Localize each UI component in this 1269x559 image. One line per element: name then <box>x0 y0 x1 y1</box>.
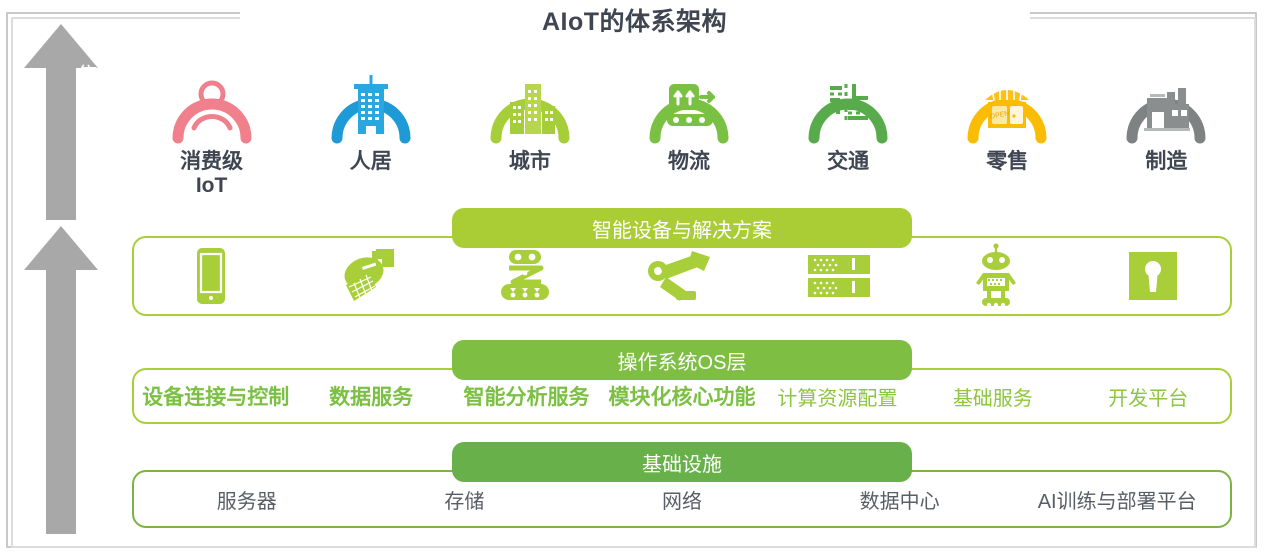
infrastructure-pill: 基础设施 <box>452 442 912 482</box>
os-item-device-connection[interactable]: 设备连接与控制 <box>138 381 293 411</box>
city-icon <box>484 58 576 144</box>
infra-item-data-center[interactable]: 数据中心 <box>791 485 1009 514</box>
vacuum-cleaner-icon <box>289 245 446 307</box>
logistics-icon <box>643 58 735 144</box>
infra-item-network[interactable]: 网络 <box>573 485 791 514</box>
os-item-intelligent-analysis[interactable]: 智能分析服务 <box>449 381 604 411</box>
sector-manufacturing-label: 制造 <box>1145 150 1187 174</box>
layer-smart-devices: 智能设备与解决方案 <box>132 224 1232 316</box>
page-title: AIoT的体系架构 <box>0 2 1269 38</box>
sector-city[interactable]: 城市 <box>450 58 609 198</box>
sector-logistics-label: 物流 <box>668 150 710 174</box>
layer-infrastructure: 服务器 存储 网络 数据中心 AI训练与部署平台 基础设施 <box>132 458 1232 546</box>
building-icon <box>325 58 417 144</box>
smartphone-icon <box>132 246 289 306</box>
smart-lock-icon <box>1075 250 1232 302</box>
sector-manufacturing[interactable]: 制造 <box>1087 58 1246 198</box>
sector-row: 消费级 IoT <box>132 58 1246 198</box>
arrow-integration-services: 集成服务 <box>24 24 98 220</box>
sector-city-label: 城市 <box>509 150 551 174</box>
os-item-compute-resource[interactable]: 计算资源配置 <box>760 382 915 411</box>
infra-item-ai-platform[interactable]: AI训练与部署平台 <box>1008 485 1226 514</box>
diagram-canvas: AIoT的体系架构 集成服务 体系架构 消费级 IoT <box>0 0 1269 559</box>
arrow-system-architecture: 体系架构 <box>24 226 98 534</box>
humanoid-robot-icon <box>918 243 1075 309</box>
arrow-integration-services-label: 集成服务 <box>24 64 98 160</box>
sector-retail[interactable]: OPEN 零售 <box>928 58 1087 198</box>
os-item-basic-service[interactable]: 基础服务 <box>915 382 1070 411</box>
os-pill: 操作系统OS层 <box>452 340 912 380</box>
traffic-icon <box>802 58 894 144</box>
sector-residence-label: 人居 <box>350 150 392 174</box>
smart-devices-pill: 智能设备与解决方案 <box>452 208 912 248</box>
factory-icon <box>1120 58 1212 144</box>
retail-icon: OPEN <box>961 58 1053 144</box>
sector-consumer-iot[interactable]: 消费级 IoT <box>132 58 291 198</box>
sector-traffic-label: 交通 <box>827 150 869 174</box>
os-item-dev-platform[interactable]: 开发平台 <box>1071 382 1226 411</box>
sector-consumer-iot-label: 消费级 IoT <box>180 150 243 197</box>
robot-vehicle-icon <box>446 246 603 306</box>
robotic-arm-icon <box>603 247 760 305</box>
layer-operating-system: 设备连接与控制 数据服务 智能分析服务 模块化核心功能 计算资源配置 基础服务 … <box>132 356 1232 444</box>
infra-item-server[interactable]: 服务器 <box>138 485 356 514</box>
os-item-data-service[interactable]: 数据服务 <box>293 381 448 411</box>
person-icon <box>166 58 258 144</box>
os-item-modular-core[interactable]: 模块化核心功能 <box>604 381 759 411</box>
sector-retail-label: 零售 <box>986 150 1028 174</box>
server-rack-icon <box>761 253 918 299</box>
arrow-system-architecture-label: 体系架构 <box>24 288 98 384</box>
sector-logistics[interactable]: 物流 <box>609 58 768 198</box>
infra-item-storage[interactable]: 存储 <box>356 485 574 514</box>
sector-residence[interactable]: 人居 <box>291 58 450 198</box>
sector-traffic[interactable]: 交通 <box>769 58 928 198</box>
smart-devices-icon-row <box>132 236 1232 316</box>
